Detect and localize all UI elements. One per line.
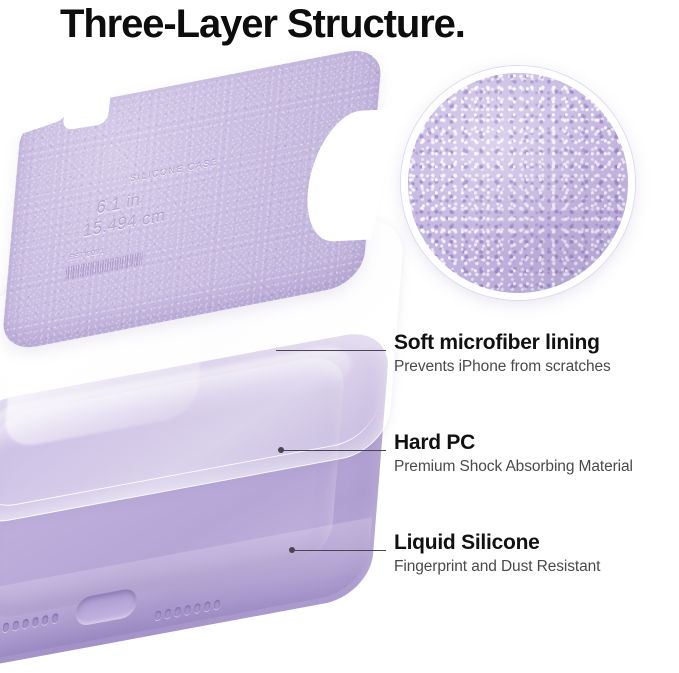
callout-hard-pc-title: Hard PC [394,432,633,455]
callout-liquid-silicone-title: Liquid Silicone [394,532,600,555]
callout-microfiber-title: Soft microfiber lining [394,332,611,355]
infographic-canvas: Three-Layer Structure. [0,0,679,656]
product-exploded-view: SILICONE CASE 6.1 in 15.494 cm ESTI0091 [0,60,420,620]
leader-line-hard-pc [281,450,386,451]
page-title: Three-Layer Structure. [60,2,465,47]
magnifier-shading-overlay [408,73,628,293]
leader-line-microfiber [276,350,386,351]
callout-liquid-silicone-subtitle: Fingerprint and Dust Resistant [394,558,600,576]
callout-liquid-silicone: Liquid Silicone Fingerprint and Dust Res… [394,532,600,575]
callout-hard-pc-subtitle: Premium Shock Absorbing Material [394,458,633,476]
callout-microfiber-subtitle: Prevents iPhone from scratches [394,358,611,376]
leader-line-liquid-silicone [292,550,386,551]
microfiber-macro-zoom-circle [401,66,635,300]
callout-hard-pc: Hard PC Premium Shock Absorbing Material [394,432,633,475]
callout-microfiber: Soft microfiber lining Prevents iPhone f… [394,332,611,375]
